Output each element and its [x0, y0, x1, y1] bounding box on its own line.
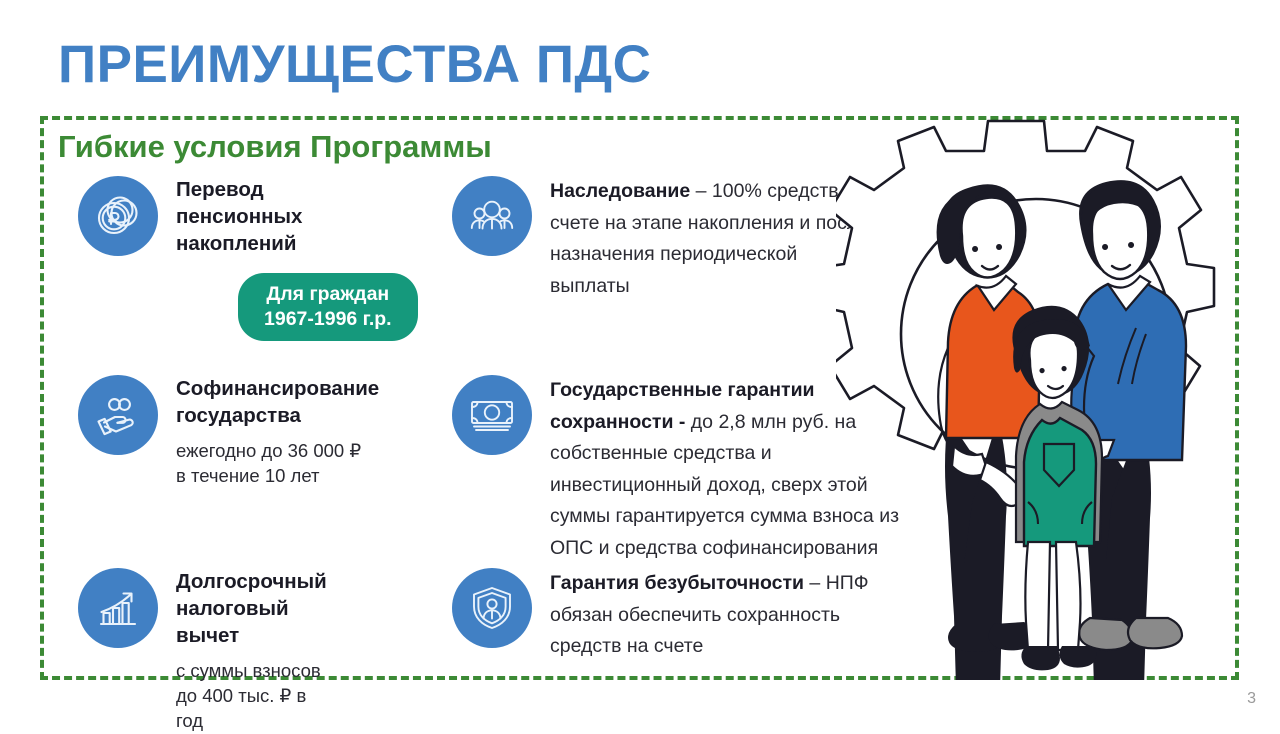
benefit-heading: Софинансирование государства [176, 375, 379, 429]
benefit-body: Наследование – 100% средств на счете на … [550, 176, 880, 302]
benefit-subtext-line: до 400 тыс. ₽ в год [176, 685, 306, 731]
banknote-icon [452, 375, 532, 455]
benefit-heading-line: Софинансирование [176, 377, 379, 400]
benefit-heading-line: налоговый вычет [176, 597, 289, 647]
growth-chart-icon [78, 568, 158, 648]
benefit-heading-line: Перевод [176, 178, 264, 201]
hand-with-money-icon [78, 375, 158, 455]
page-number: 3 [1247, 690, 1256, 708]
badge-line: Для граждан [264, 282, 392, 307]
eligibility-badge: Для граждан 1967-1996 г.р. [238, 273, 418, 341]
page-title: ПРЕИМУЩЕСТВА ПДС [58, 38, 651, 91]
benefit-lead: Наследование [550, 180, 690, 202]
benefit-heading-line: государства [176, 404, 301, 427]
benefit-heading-line: Долгосрочный [176, 570, 327, 593]
shield-person-icon [452, 568, 532, 648]
benefit-subtext: ежегодно до 36 000 ₽ в течение 10 лет [176, 439, 379, 489]
benefit-body: Долгосрочный налоговый вычет с суммы взн… [176, 568, 327, 734]
benefit-heading: Долгосрочный налоговый вычет [176, 568, 327, 649]
benefit-paragraph: Наследование – 100% средств на счете на … [550, 176, 880, 302]
benefit-subtext: с суммы взносов до 400 тыс. ₽ в год [176, 659, 327, 734]
benefit-heading: Перевод пенсионных накоплений [176, 176, 418, 257]
benefit-subtext-line: с суммы взносов [176, 660, 321, 681]
benefit-body: Перевод пенсионных накоплений Для гражда… [176, 176, 418, 341]
benefit-heading-line: пенсионных [176, 205, 302, 228]
benefit-subtext-line: ежегодно до 36 000 ₽ [176, 440, 361, 461]
badge-line: 1967-1996 г.р. [264, 307, 392, 332]
slide-root: ПРЕИМУЩЕСТВА ПДС Гибкие условия Программ… [0, 0, 1280, 720]
ruble-coins-icon [78, 176, 158, 256]
benefit-subtext-line: в течение 10 лет [176, 465, 319, 486]
benefit-lead: Гарантия безубыточности [550, 572, 804, 594]
family-in-gear-illustration [836, 118, 1236, 680]
family-group-icon [452, 176, 532, 256]
panel-subtitle: Гибкие условия Программы [58, 129, 492, 165]
benefit-body: Софинансирование государства ежегодно до… [176, 375, 379, 489]
benefit-heading-line: накоплений [176, 232, 296, 255]
